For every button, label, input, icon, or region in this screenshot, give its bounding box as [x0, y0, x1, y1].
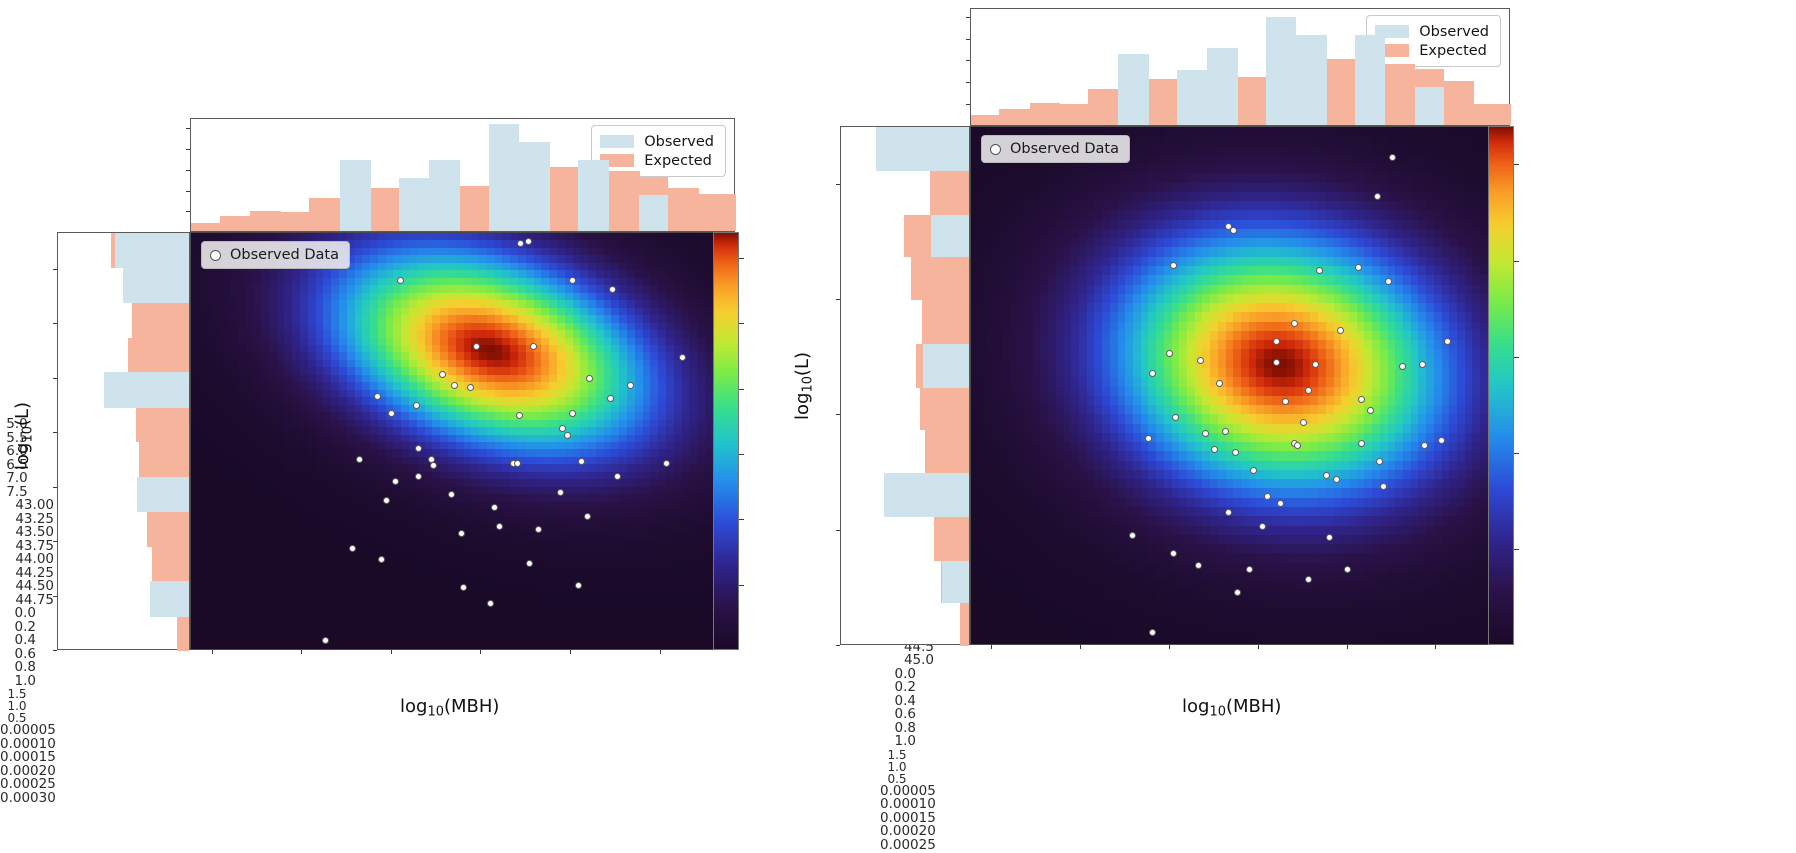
- colorbar-tick-mark: [739, 585, 744, 586]
- colorbar-tick-mark: [1514, 261, 1519, 262]
- scatter-point: [1291, 320, 1298, 327]
- scatter-point: [473, 343, 480, 350]
- histogram-bar: [281, 212, 310, 231]
- histogram-bar: [876, 127, 969, 171]
- histogram-bar: [1296, 35, 1327, 125]
- density-heatmap: Observed Data: [190, 232, 735, 650]
- histogram-bar: [920, 388, 969, 430]
- histogram-bar: [1118, 54, 1149, 125]
- scatter-point: [609, 286, 616, 293]
- x-tick-mark: [1435, 645, 1436, 649]
- histogram-bar: [911, 256, 969, 300]
- histogram-bar: [220, 216, 251, 231]
- histogram-bar: [609, 171, 640, 231]
- colorbar-tick-mark: [739, 258, 744, 259]
- scatter-point: [559, 425, 566, 432]
- scatter-point: [607, 395, 614, 402]
- y-tick-mark: [53, 650, 57, 651]
- scatter-point: [1195, 562, 1202, 569]
- colorbar-tick-mark: [1514, 549, 1519, 550]
- histogram-bar: [923, 344, 969, 388]
- scatter-point: [535, 526, 542, 533]
- hist-legend-row: Expected: [600, 151, 714, 170]
- top-marginal-histogram: ObservedExpected: [190, 118, 735, 232]
- histogram-bar: [340, 160, 371, 231]
- histogram-bar: [147, 512, 189, 547]
- y-tick-mark: [186, 170, 190, 171]
- histogram-bar: [999, 109, 1030, 125]
- x-axis-label: log10(MBH): [400, 698, 499, 720]
- histogram-bar: [698, 194, 736, 231]
- scatter-point: [1323, 472, 1330, 479]
- colorbar-tick-mark: [1514, 357, 1519, 358]
- scatter-point: [1444, 338, 1451, 345]
- histogram-bar: [1030, 103, 1061, 125]
- x-axis-label: log10(MBH): [1182, 698, 1281, 720]
- histogram-bar: [136, 407, 189, 442]
- colorbar-tick-label: 0.00005: [880, 785, 1796, 799]
- scatter-point: [1129, 532, 1136, 539]
- x-tick-mark: [991, 645, 992, 649]
- y-tick-mark: [186, 191, 190, 192]
- y-tick-mark: [966, 104, 970, 105]
- colorbar-tick-label: 0.00015: [880, 812, 1796, 826]
- hist-legend-row: Observed: [600, 132, 714, 151]
- histogram-bar: [1415, 87, 1444, 125]
- x-tick-mark: [1347, 645, 1348, 649]
- scatter-point: [1355, 264, 1362, 271]
- histogram-bar: [460, 186, 489, 231]
- scatter-point: [1216, 380, 1223, 387]
- scatter-point: [322, 637, 329, 644]
- hist-legend-row: Observed: [1375, 22, 1489, 41]
- scatter-point: [491, 504, 498, 511]
- colorbar-tick-label: 0.00010: [0, 738, 880, 752]
- histogram-bar: [137, 477, 189, 512]
- scatter-point: [1380, 483, 1387, 490]
- colorbar-tick-label: 0.00010: [880, 798, 1796, 812]
- histogram-bar: [309, 198, 340, 231]
- top-hist-tick-label: 1.0: [880, 735, 916, 749]
- histogram-bar: [250, 211, 281, 231]
- scatter-point: [1305, 387, 1312, 394]
- observed-label: Observed: [644, 134, 714, 150]
- histogram-bar: [934, 517, 969, 561]
- histogram-bar: [884, 473, 969, 517]
- x-tick-mark: [570, 650, 571, 654]
- histogram-bar: [1177, 70, 1208, 125]
- scatter-point: [530, 343, 537, 350]
- histogram-bar: [971, 115, 1000, 125]
- histogram-bar: [1207, 48, 1238, 125]
- figure-root: Observed Data5.05.56.06.57.07.543.0043.2…: [0, 0, 1796, 831]
- y-tick-mark: [966, 39, 970, 40]
- scatter-point: [516, 412, 523, 419]
- scatter-point: [525, 238, 532, 245]
- histogram-bar: [128, 338, 189, 373]
- top-hist-tick-label: 1.0: [0, 675, 36, 689]
- histogram-bar: [132, 303, 189, 338]
- scatter-point: [575, 582, 582, 589]
- x-tick-mark: [301, 650, 302, 654]
- circle-marker-icon: [210, 250, 221, 261]
- density-heatmap: Observed Data: [970, 126, 1510, 645]
- histogram-bar: [925, 429, 969, 473]
- histogram-bar: [639, 195, 668, 231]
- colorbar-tick-mark: [1514, 164, 1519, 165]
- x-tick-mark: [480, 650, 481, 654]
- y-axis-label: log10(L): [14, 402, 36, 470]
- histogram-bar: [104, 372, 189, 407]
- scatter-legend: Observed Data: [981, 135, 1130, 163]
- y-tick-mark: [966, 17, 970, 18]
- histogram-bar: [931, 215, 969, 257]
- colorbar-tick-mark: [739, 454, 744, 455]
- scatter-point: [487, 600, 494, 607]
- histogram-bar: [930, 171, 970, 215]
- histogram-bar: [1444, 81, 1475, 125]
- scatter-point: [627, 382, 634, 389]
- y-tick-mark: [966, 60, 970, 61]
- scatter-point: [1282, 398, 1289, 405]
- scatter-point: [1316, 267, 1323, 274]
- colorbar-tick-label: 0.00020: [880, 825, 1796, 839]
- scatter-point: [1300, 419, 1307, 426]
- colorbar-tick-label: 0.00020: [0, 765, 880, 779]
- scatter-point: [1225, 509, 1232, 516]
- x-tick-mark: [1080, 645, 1081, 649]
- scatter-point: [586, 375, 593, 382]
- scatter-point: [1166, 350, 1173, 357]
- colorbar-tick-label: 0.00025: [880, 839, 1796, 853]
- hist-legend-row: Expected: [1375, 41, 1489, 60]
- marginal-x-tick-label: 1.5: [880, 749, 914, 761]
- histogram-bar: [399, 178, 430, 231]
- scatter-point: [1421, 442, 1428, 449]
- scatter-point: [557, 489, 564, 496]
- colorbar-tick-mark: [739, 323, 744, 324]
- histogram-bar: [1266, 17, 1297, 125]
- colorbar: [713, 232, 739, 650]
- scatter-point: [1337, 327, 1344, 334]
- scatter-point: [1277, 500, 1284, 507]
- scatter-point: [1172, 414, 1179, 421]
- histogram-bar: [1088, 89, 1119, 125]
- colorbar-tick-label: 0.00015: [0, 751, 880, 765]
- scatter-point: [1149, 370, 1156, 377]
- y-tick-mark: [186, 211, 190, 212]
- scatter-point: [663, 460, 670, 467]
- scatter-point: [1197, 357, 1204, 364]
- histogram-bar: [152, 547, 189, 582]
- colorbar-tick-mark: [1514, 453, 1519, 454]
- scatter-point: [1170, 262, 1177, 269]
- histogram-bar: [1237, 77, 1266, 125]
- left-marginal-histogram: [840, 126, 970, 645]
- hist-legend: ObservedExpected: [591, 125, 726, 177]
- colorbar: [1488, 126, 1514, 645]
- scatter-point: [1259, 523, 1266, 530]
- scatter-point: [392, 478, 399, 485]
- x-tick-mark: [212, 650, 213, 654]
- scatter-point: [1385, 278, 1392, 285]
- histogram-bar: [115, 233, 189, 268]
- scatter-point: [679, 354, 686, 361]
- scatter-legend-label: Observed Data: [230, 247, 339, 263]
- histogram-bar: [1355, 35, 1386, 125]
- scatter-point: [1149, 629, 1156, 636]
- histogram-bar: [668, 188, 699, 231]
- colorbar-tick-label: 0.00005: [0, 724, 880, 738]
- colorbar-tick-mark: [739, 389, 744, 390]
- histogram-bar: [519, 142, 550, 231]
- expected-label: Expected: [1419, 43, 1487, 59]
- scatter-legend-label: Observed Data: [1010, 141, 1119, 157]
- histogram-bar: [1326, 59, 1355, 125]
- histogram-bar: [578, 160, 609, 231]
- y-tick-mark: [836, 645, 840, 646]
- histogram-bar: [1474, 104, 1512, 125]
- histogram-bar: [550, 167, 579, 231]
- histogram-bar: [1385, 64, 1416, 125]
- y-tick-mark: [186, 128, 190, 129]
- histogram-bar: [370, 188, 399, 231]
- scatter-point: [1389, 154, 1396, 161]
- y-tick-mark: [186, 149, 190, 150]
- scatter-point: [439, 371, 446, 378]
- observed-swatch: [600, 135, 634, 148]
- x-tick-mark: [391, 650, 392, 654]
- scatter-point: [1222, 428, 1229, 435]
- scatter-point: [1358, 396, 1365, 403]
- scatter-point: [1264, 493, 1271, 500]
- left-joint-plot: Observed Data5.05.56.06.57.07.543.0043.2…: [0, 0, 880, 831]
- top-marginal-histogram: ObservedExpected: [970, 8, 1510, 126]
- colorbar-tick-label: 0.00025: [0, 778, 880, 792]
- colorbar-tick-mark: [739, 519, 744, 520]
- scatter-legend: Observed Data: [201, 241, 350, 269]
- y-axis-label: log10(L): [794, 352, 816, 420]
- scatter-point: [413, 402, 420, 409]
- scatter-point: [1273, 359, 1280, 366]
- histogram-bar: [139, 442, 189, 477]
- scatter-point: [430, 462, 437, 469]
- scatter-point: [1374, 193, 1381, 200]
- histogram-bar: [150, 581, 189, 616]
- scatter-point: [448, 491, 455, 498]
- scatter-point: [1305, 576, 1312, 583]
- scatter-point: [374, 393, 381, 400]
- scatter-point: [1145, 435, 1152, 442]
- x-tick-mark: [1258, 645, 1259, 649]
- histogram-bar: [489, 124, 520, 231]
- scatter-point: [1419, 361, 1426, 368]
- histogram-bar: [177, 616, 189, 651]
- histogram-bar: [429, 160, 460, 231]
- histogram-bar: [1060, 104, 1089, 125]
- histogram-bar: [942, 561, 969, 603]
- scatter-point: [564, 432, 571, 439]
- histogram-bar: [191, 223, 220, 231]
- scatter-point: [584, 513, 591, 520]
- expected-label: Expected: [644, 153, 712, 169]
- histogram-bar: [1149, 79, 1178, 125]
- marginal-x-tick-label: 1.0: [880, 761, 914, 773]
- observed-label: Observed: [1419, 24, 1489, 40]
- scatter-point: [1232, 449, 1239, 456]
- circle-marker-icon: [990, 144, 1001, 155]
- scatter-point: [1358, 440, 1365, 447]
- x-tick-mark: [1169, 645, 1170, 649]
- colorbar-tick-label: 0.00030: [0, 792, 880, 806]
- histogram-bar: [960, 602, 969, 646]
- y-tick-mark: [966, 82, 970, 83]
- x-tick-mark: [660, 650, 661, 654]
- hist-legend: ObservedExpected: [1366, 15, 1501, 67]
- scatter-point: [1273, 338, 1280, 345]
- histogram-bar: [922, 300, 969, 344]
- scatter-point: [349, 545, 356, 552]
- histogram-bar: [123, 268, 189, 303]
- right-joint-plot: Observed Data5.05.56.06.57.07.543.043.54…: [880, 0, 1796, 831]
- left-marginal-histogram: [57, 232, 190, 650]
- scatter-point: [356, 456, 363, 463]
- scatter-point: [451, 382, 458, 389]
- scatter-point: [378, 556, 385, 563]
